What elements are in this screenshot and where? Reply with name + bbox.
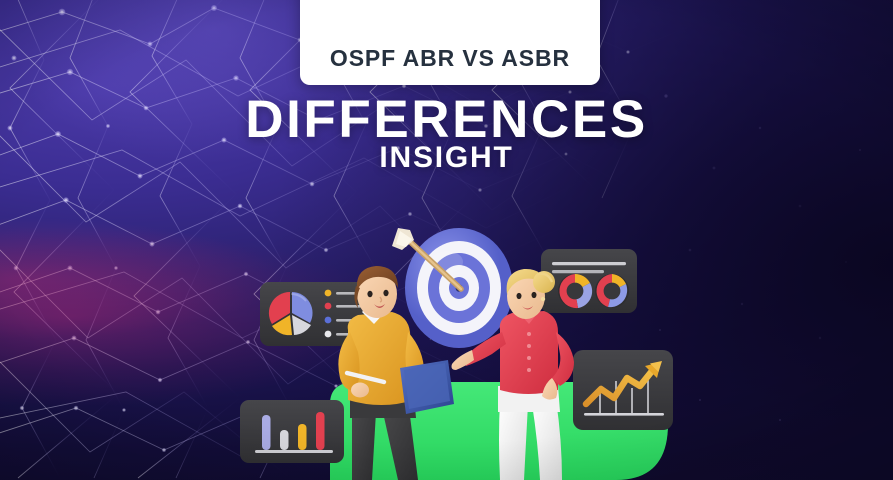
- subheadline-text: INSIGHT: [0, 143, 893, 173]
- headline-text: DIFFERENCES: [0, 93, 893, 146]
- poster-canvas: OSPF ABR VS ASBR DIFFERENCES INSIGHT: [0, 0, 893, 480]
- title-card-label: OSPF ABR VS ASBR: [330, 45, 570, 72]
- title-card: OSPF ABR VS ASBR: [300, 0, 600, 85]
